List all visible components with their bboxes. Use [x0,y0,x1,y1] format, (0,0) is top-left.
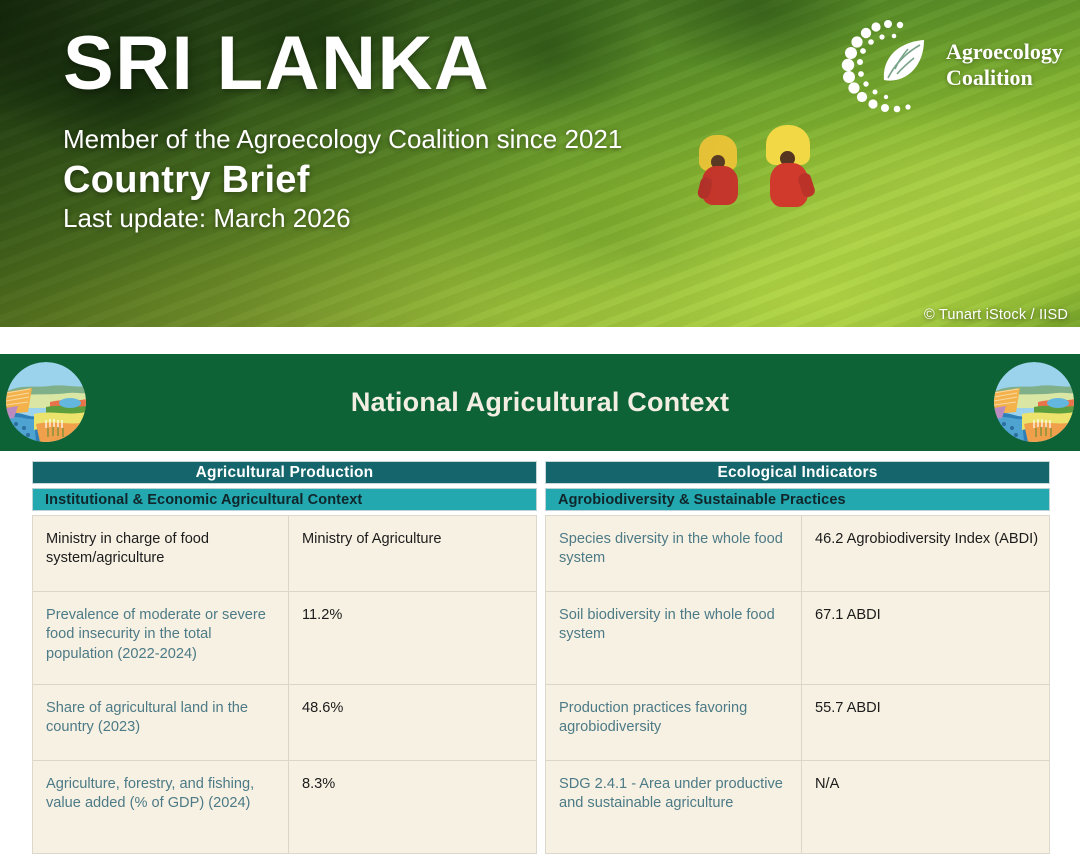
country-brief-page: SRI LANKA Member of the Agroecology Coal… [0,0,1080,863]
table-row: Production practices favoring agrobiodiv… [546,684,1049,760]
table-body-right: Species diversity in the whole food syst… [545,515,1050,854]
membership-line: Member of the Agroecology Coalition sinc… [63,124,823,155]
row-value: 48.6% [289,685,536,760]
row-label: Agriculture, forestry, and fishing, valu… [33,761,289,853]
document-type-title: Country Brief [63,159,823,202]
row-label: Species diversity in the whole food syst… [546,516,802,591]
last-update-text: Last update: March 2026 [63,203,823,234]
round-farm-landscape-icon-left [6,362,86,442]
round-farm-landscape-icon-right [994,362,1074,442]
table-row: Soil biodiversity in the whole food syst… [546,591,1049,684]
agroecology-coalition-logo: Agroecology Coalition [838,18,1048,118]
table-row: Agriculture, forestry, and fishing, valu… [33,760,536,853]
table-header-ecological-indicators: Ecological Indicators [545,461,1050,484]
row-label: Soil biodiversity in the whole food syst… [546,592,802,684]
logo-wordmark: Agroecology Coalition [946,39,1063,90]
row-value: 67.1 ABDI [802,592,1049,684]
row-label: Production practices favoring agrobiodiv… [546,685,802,760]
section-banner: National Agricultural Context [0,354,1080,451]
leaf-in-dot-circle-icon [838,18,942,118]
page-title: SRI LANKA [63,26,823,102]
logo-line-2: Coalition [946,65,1063,91]
hero-text-block: SRI LANKA Member of the Agroecology Coal… [63,26,823,234]
row-value: 8.3% [289,761,536,853]
row-label: Prevalence of moderate or severe food in… [33,592,289,684]
hero-section-divider [0,327,1080,354]
row-label: SDG 2.4.1 - Area under productive and su… [546,761,802,853]
table-row: SDG 2.4.1 - Area under productive and su… [546,760,1049,853]
table-header-agricultural-production: Agricultural Production [32,461,537,484]
photo-credit: © Tunart iStock / IISD [924,307,1068,323]
table-subheader-agrobiodiversity-sustainable-practices: Agrobiodiversity & Sustainable Practices [545,488,1050,511]
row-label: Ministry in charge of food system/agricu… [33,516,289,591]
indicator-tables: Agricultural Production Institutional & … [0,451,1080,854]
row-value: 55.7 ABDI [802,685,1049,760]
table-agricultural-production: Agricultural Production Institutional & … [32,461,537,854]
table-ecological-indicators: Ecological Indicators Agrobiodiversity &… [545,461,1050,854]
table-row: Prevalence of moderate or severe food in… [33,591,536,684]
table-subheader-institutional-economic: Institutional & Economic Agricultural Co… [32,488,537,511]
row-value: Ministry of Agriculture [289,516,536,591]
table-row: Share of agricultural land in the countr… [33,684,536,760]
row-value: 11.2% [289,592,536,684]
row-value: N/A [802,761,1049,853]
row-value: 46.2 Agrobiodiversity Index (ABDI) [802,516,1049,591]
section-title: National Agricultural Context [351,387,729,418]
table-row: Species diversity in the whole food syst… [546,515,1049,591]
table-row: Ministry in charge of food system/agricu… [33,515,536,591]
hero-banner: SRI LANKA Member of the Agroecology Coal… [0,0,1080,327]
logo-line-1: Agroecology [946,39,1063,65]
table-body-left: Ministry in charge of food system/agricu… [32,515,537,854]
row-label: Share of agricultural land in the countr… [33,685,289,760]
